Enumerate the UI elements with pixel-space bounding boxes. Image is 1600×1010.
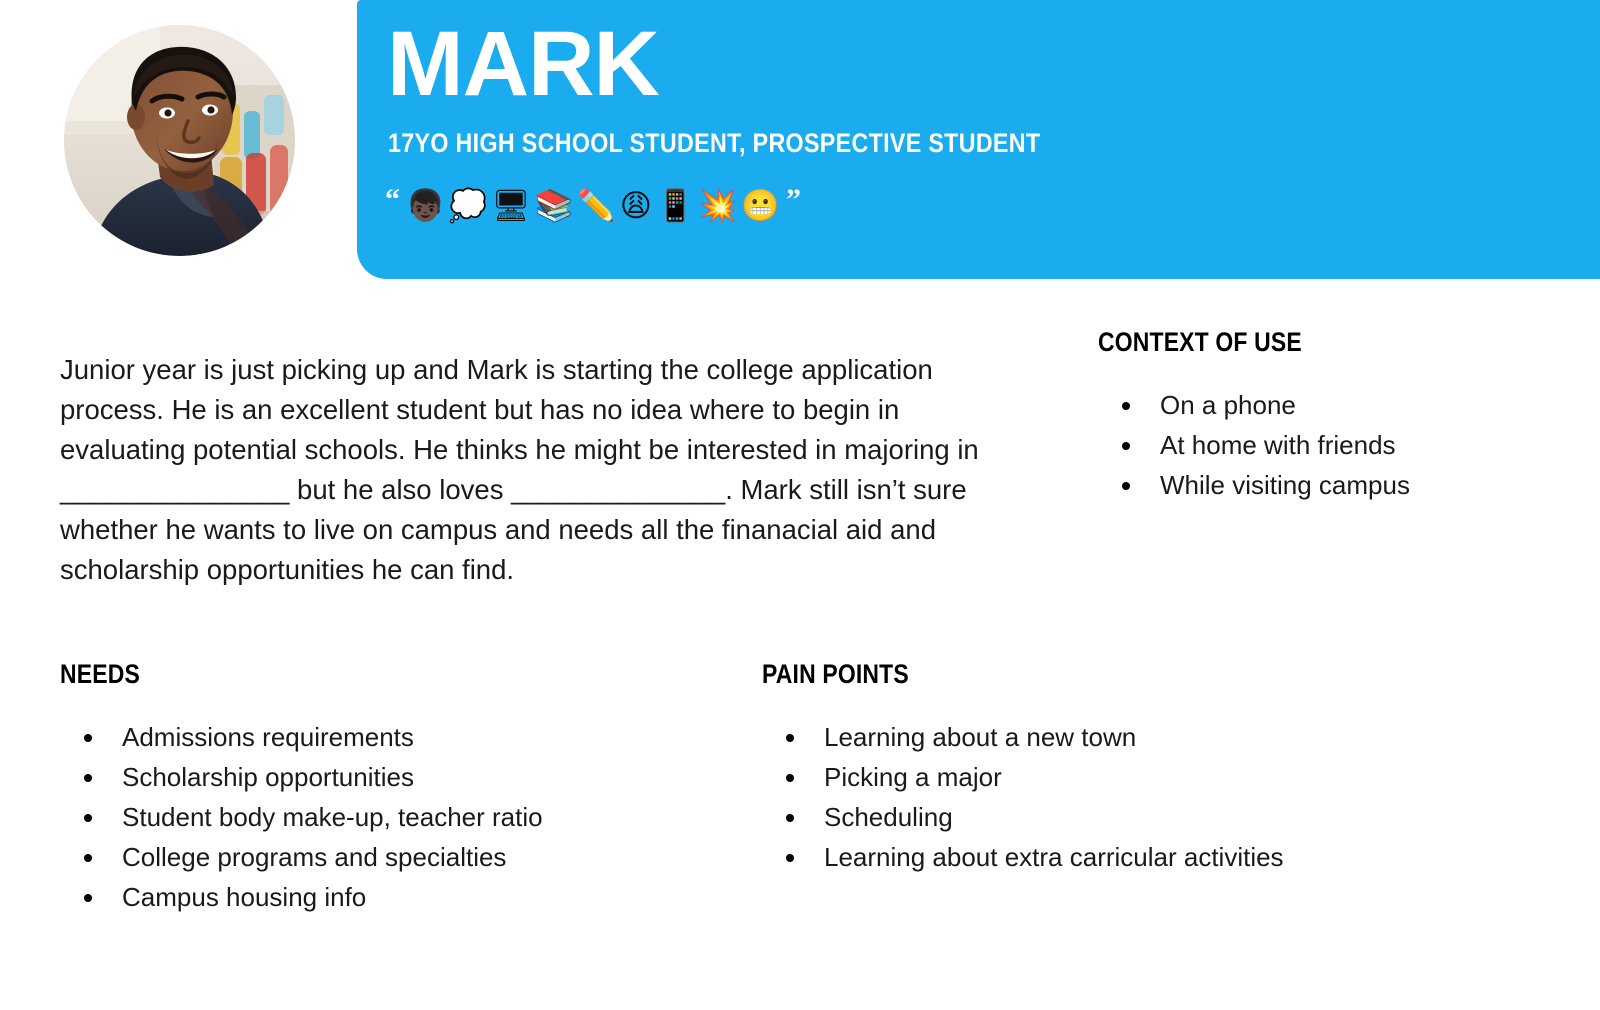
list-item: Admissions requirements bbox=[60, 717, 543, 757]
avatar-photo bbox=[64, 25, 295, 256]
list-item: Learning about a new town bbox=[762, 717, 1284, 757]
collision-emoji: 💥 bbox=[699, 186, 738, 226]
list-item: Picking a major bbox=[762, 757, 1284, 797]
list-item: Scheduling bbox=[762, 797, 1284, 837]
pain-points-heading: PAIN POINTS bbox=[762, 661, 909, 688]
pain-points-list: Learning about a new town Picking a majo… bbox=[762, 717, 1284, 877]
needs-heading: NEEDS bbox=[60, 661, 140, 688]
list-item: On a phone bbox=[1098, 385, 1410, 425]
persona-summary: Junior year is just picking up and Mark … bbox=[60, 350, 1000, 590]
context-of-use-heading: CONTEXT OF USE bbox=[1098, 329, 1302, 356]
weary-face-emoji: 😩 bbox=[620, 186, 652, 226]
list-item: Learning about extra carricular activiti… bbox=[762, 837, 1284, 877]
grimacing-face-emoji: 😬 bbox=[741, 186, 780, 226]
context-of-use-list: On a phone At home with friends While vi… bbox=[1098, 385, 1410, 505]
avatar bbox=[64, 25, 295, 256]
list-item: Scholarship opportunities bbox=[60, 757, 543, 797]
books-emoji: 📚 bbox=[535, 186, 574, 226]
close-quote-mark: ” bbox=[786, 185, 801, 215]
list-item: Campus housing info bbox=[60, 877, 543, 917]
needs-list: Admissions requirements Scholarship oppo… bbox=[60, 717, 543, 917]
persona-emoji-quote: “ 👦🏿 💭 🖥 📚 ✏️ 😩 📱 💥 😬 ” bbox=[385, 186, 801, 226]
pencil-emoji: ✏️ bbox=[577, 186, 616, 226]
page-title: MARK bbox=[387, 18, 659, 110]
list-item: Student body make-up, teacher ratio bbox=[60, 797, 543, 837]
open-quote-mark: “ bbox=[385, 185, 400, 215]
boy-face-emoji: 👦🏿 bbox=[406, 186, 445, 226]
list-item: While visiting campus bbox=[1098, 465, 1410, 505]
persona-banner: MARK 17YO HIGH SCHOOL STUDENT, PROSPECTI… bbox=[357, 0, 1600, 279]
persona-role: 17YO HIGH SCHOOL STUDENT, PROSPECTIVE ST… bbox=[388, 130, 1040, 157]
mobile-phone-emoji: 📱 bbox=[656, 186, 695, 226]
persona-header: MARK 17YO HIGH SCHOOL STUDENT, PROSPECTI… bbox=[0, 0, 1600, 280]
desktop-computer-emoji: 🖥 bbox=[491, 186, 530, 226]
list-item: At home with friends bbox=[1098, 425, 1410, 465]
thought-balloon-emoji: 💭 bbox=[449, 186, 488, 226]
list-item: College programs and specialties bbox=[60, 837, 543, 877]
